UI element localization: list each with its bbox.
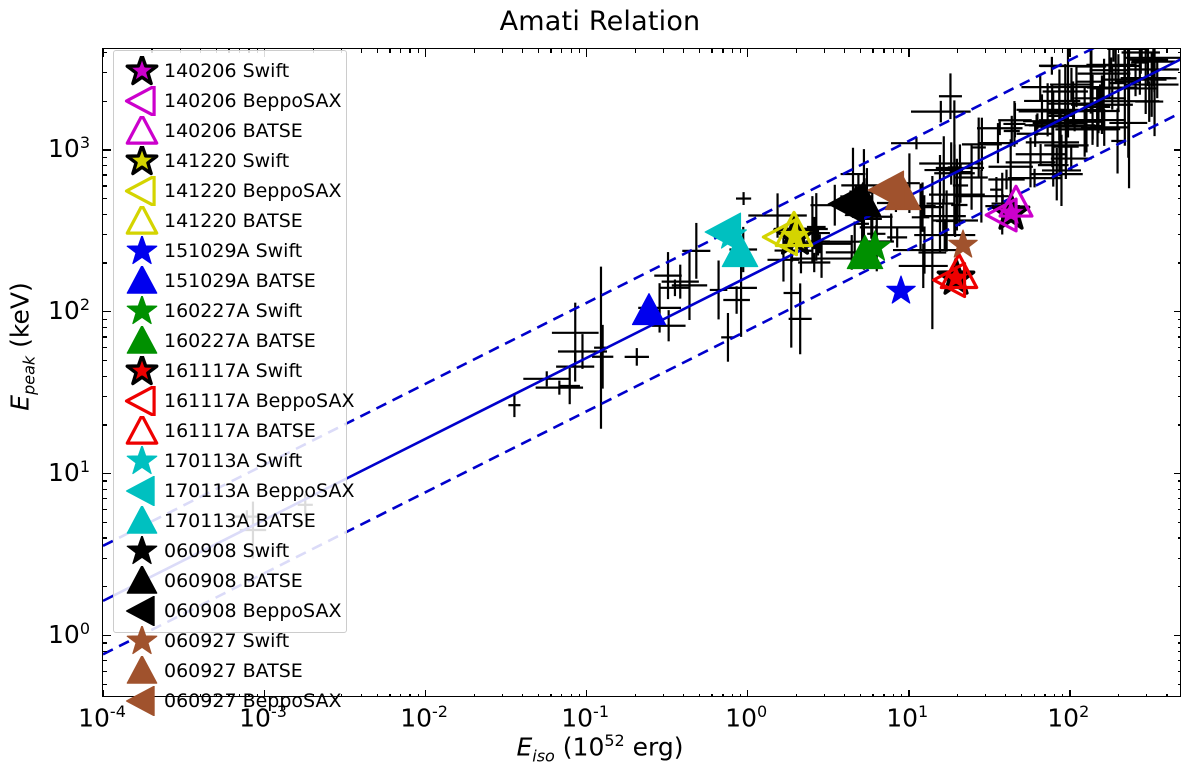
legend-item-141220-batse[interactable]: 141220 BATSE bbox=[114, 206, 346, 236]
axis-tick-mark bbox=[908, 690, 909, 697]
legend-item-160227a-batse[interactable]: 160227A BATSE bbox=[114, 326, 346, 356]
axis-tick-mark bbox=[103, 424, 107, 425]
axis-tick-mark bbox=[550, 49, 551, 53]
legend-marker-icon bbox=[120, 656, 164, 686]
axis-tick-mark bbox=[418, 49, 419, 53]
axis-tick-mark bbox=[663, 49, 664, 53]
legend-item-label: 060927 BeppoSAX bbox=[164, 692, 341, 711]
axis-tick-mark bbox=[103, 635, 111, 636]
axis-tick-mark bbox=[1178, 319, 1181, 320]
axis-tick-mark bbox=[418, 694, 419, 697]
axis-tick-mark bbox=[502, 694, 503, 697]
legend-marker-icon bbox=[120, 176, 164, 206]
y-tick-label: 103 bbox=[48, 133, 90, 163]
axis-tick-mark bbox=[1062, 694, 1063, 697]
axis-tick-mark bbox=[1178, 360, 1181, 361]
legend-item-160227a-swift[interactable]: 160227A Swift bbox=[114, 296, 346, 326]
axis-tick-mark bbox=[1178, 52, 1181, 53]
legend-marker-star-icon bbox=[127, 236, 156, 264]
axis-tick-mark bbox=[635, 49, 636, 53]
x-tick-label: 101 bbox=[886, 702, 928, 732]
legend-item-060927-bepposax[interactable]: 060927 BeppoSAX bbox=[114, 686, 346, 716]
legend-item-label: 160227A Swift bbox=[164, 302, 302, 321]
axis-tick-mark bbox=[1069, 49, 1070, 57]
legend-marker-icon bbox=[120, 566, 164, 596]
axis-tick-mark bbox=[957, 694, 958, 697]
legend-item-label: 141220 Swift bbox=[164, 152, 289, 171]
axis-tick-mark bbox=[740, 694, 741, 697]
axis-tick-mark bbox=[1166, 694, 1167, 697]
legend-item-140206-batse[interactable]: 140206 BATSE bbox=[114, 116, 346, 146]
axis-tick-mark bbox=[901, 694, 902, 697]
axis-tick-mark bbox=[103, 690, 104, 697]
axis-tick-mark bbox=[957, 49, 958, 53]
axis-tick-mark bbox=[1178, 558, 1181, 559]
axis-tick-mark bbox=[1146, 694, 1147, 697]
y-axis-label-symbol: E bbox=[6, 395, 35, 411]
axis-tick-mark bbox=[561, 694, 562, 697]
background-errorbar-points bbox=[235, 49, 1181, 558]
axis-tick-mark bbox=[103, 473, 111, 474]
legend-marker-icon bbox=[120, 506, 164, 536]
x-axis-label-unit-close: erg) bbox=[625, 732, 684, 761]
axis-tick-mark bbox=[571, 694, 572, 697]
axis-tick-mark bbox=[579, 694, 580, 697]
legend-marker-icon bbox=[120, 206, 164, 236]
x-tick-label: 102 bbox=[1047, 702, 1089, 732]
legend-item-151029a-swift[interactable]: 151029A Swift bbox=[114, 236, 346, 266]
axis-tick-mark bbox=[103, 311, 111, 312]
legend-item-label: 060908 Swift bbox=[164, 542, 289, 561]
axis-tick-mark bbox=[377, 49, 378, 53]
legend-item-161117a-batse[interactable]: 161117A BATSE bbox=[114, 416, 346, 446]
axis-tick-mark bbox=[1021, 49, 1022, 53]
legend-box[interactable]: 140206 Swift140206 BeppoSAX140206 BATSE1… bbox=[113, 50, 347, 633]
legend-item-label: 161117A BeppoSAX bbox=[164, 392, 354, 411]
axis-tick-mark bbox=[893, 694, 894, 697]
axis-tick-mark bbox=[103, 157, 107, 158]
axis-tick-mark bbox=[883, 49, 884, 53]
axis-tick-mark bbox=[732, 49, 733, 53]
legend-marker-star-icon bbox=[127, 356, 156, 384]
axis-tick-mark bbox=[663, 694, 664, 697]
axis-tick-mark bbox=[1174, 473, 1181, 474]
axis-tick-mark bbox=[1178, 101, 1181, 102]
legend-marker-icon bbox=[120, 86, 164, 116]
legend-item-140206-swift[interactable]: 140206 Swift bbox=[114, 56, 346, 86]
legend-item-161117a-swift[interactable]: 161117A Swift bbox=[114, 356, 346, 386]
axis-tick-mark bbox=[103, 586, 107, 587]
axis-tick-mark bbox=[1044, 49, 1045, 53]
legend-item-label: 151029A BATSE bbox=[164, 272, 316, 291]
axis-tick-mark bbox=[860, 49, 861, 53]
axis-tick-mark bbox=[425, 49, 426, 57]
axis-tick-mark bbox=[1178, 684, 1181, 685]
axis-tick-mark bbox=[1178, 424, 1181, 425]
legend-item-161117a-bepposax[interactable]: 161117A BeppoSAX bbox=[114, 386, 346, 416]
legend-item-label: 161117A BATSE bbox=[164, 422, 316, 441]
axis-tick-mark bbox=[699, 49, 700, 53]
legend-marker-triangle-left-open-icon bbox=[127, 176, 155, 205]
axis-tick-mark bbox=[1069, 690, 1070, 697]
axis-tick-mark bbox=[103, 642, 107, 643]
axis-tick-mark bbox=[538, 694, 539, 697]
axis-tick-mark bbox=[1034, 694, 1035, 697]
legend-item-label: 060927 Swift bbox=[164, 632, 289, 651]
legend-marker-star-icon bbox=[127, 536, 156, 564]
axis-tick-mark bbox=[1174, 311, 1181, 312]
axis-tick-mark bbox=[1178, 642, 1181, 643]
axis-tick-mark bbox=[1178, 651, 1181, 652]
grb-marker-151029A-star bbox=[887, 276, 915, 303]
axis-tick-mark bbox=[389, 49, 390, 53]
legend-item-140206-bepposax[interactable]: 140206 BeppoSAX bbox=[114, 86, 346, 116]
axis-tick-mark bbox=[103, 214, 107, 215]
legend-marker-icon bbox=[120, 626, 164, 656]
axis-tick-mark bbox=[586, 690, 587, 697]
axis-tick-mark bbox=[1118, 694, 1119, 697]
legend-item-170113a-bepposax[interactable]: 170113A BeppoSAX bbox=[114, 476, 346, 506]
legend-marker-triangle-up-icon bbox=[127, 656, 156, 683]
axis-tick-mark bbox=[1054, 49, 1055, 53]
axis-tick-mark bbox=[796, 694, 797, 697]
axis-tick-mark bbox=[103, 360, 107, 361]
legend-item-label: 141220 BATSE bbox=[164, 212, 303, 231]
axis-tick-mark bbox=[1178, 174, 1181, 175]
axis-tick-mark bbox=[103, 376, 107, 377]
axis-tick-mark bbox=[1178, 522, 1181, 523]
axis-tick-mark bbox=[1178, 347, 1181, 348]
axis-tick-mark bbox=[1044, 694, 1045, 697]
legend-marker-triangle-left-open-icon bbox=[127, 86, 155, 115]
axis-tick-mark bbox=[474, 49, 475, 53]
legend-marker-icon bbox=[120, 266, 164, 296]
axis-tick-mark bbox=[824, 694, 825, 697]
axis-tick-mark bbox=[474, 694, 475, 697]
legend-item-label: 141220 BeppoSAX bbox=[164, 182, 341, 201]
x-axis-label-exponent: 52 bbox=[604, 731, 624, 750]
y-axis-label: Epeak (keV) bbox=[6, 147, 39, 547]
axis-tick-mark bbox=[579, 49, 580, 53]
axis-tick-mark bbox=[103, 72, 107, 73]
legend-marker-icon bbox=[120, 56, 164, 86]
y-tick-label: 101 bbox=[48, 457, 90, 487]
y-tick-label: 102 bbox=[48, 295, 90, 325]
axis-tick-mark bbox=[400, 49, 401, 53]
axis-tick-mark bbox=[740, 49, 741, 53]
legend-item-060908-swift[interactable]: 060908 Swift bbox=[114, 536, 346, 566]
axis-tick-mark bbox=[711, 694, 712, 697]
axis-tick-mark bbox=[1178, 586, 1181, 587]
axis-tick-mark bbox=[103, 185, 107, 186]
axis-tick-mark bbox=[571, 49, 572, 53]
axis-tick-mark bbox=[103, 489, 107, 490]
axis-tick-mark bbox=[1178, 376, 1181, 377]
legend-marker-icon bbox=[120, 116, 164, 146]
axis-tick-mark bbox=[103, 347, 107, 348]
axis-tick-mark bbox=[103, 671, 107, 672]
legend-item-label: 140206 Swift bbox=[164, 62, 289, 81]
legend-item-label: 151029A Swift bbox=[164, 242, 302, 261]
axis-tick-mark bbox=[522, 694, 523, 697]
legend-marker-icon bbox=[120, 446, 164, 476]
legend-marker-star-icon bbox=[127, 296, 156, 324]
axis-tick-mark bbox=[103, 558, 107, 559]
x-tick-label: 10-1 bbox=[561, 702, 609, 732]
axis-tick-mark bbox=[1178, 671, 1181, 672]
legend-marker-triangle-up-open-icon bbox=[127, 416, 156, 443]
axis-tick-mark bbox=[103, 52, 107, 53]
legend-item-label: 060927 BATSE bbox=[164, 662, 303, 681]
axis-tick-mark bbox=[389, 694, 390, 697]
axis-tick-mark bbox=[796, 49, 797, 53]
legend-marker-triangle-up-open-icon bbox=[127, 206, 156, 233]
legend-item-060908-bepposax[interactable]: 060908 BeppoSAX bbox=[114, 596, 346, 626]
axis-tick-mark bbox=[561, 49, 562, 53]
axis-tick-mark bbox=[1178, 185, 1181, 186]
chart-title: Amati Relation bbox=[0, 6, 1200, 37]
axis-tick-mark bbox=[586, 49, 587, 57]
legend-marker-triangle-left-icon bbox=[127, 596, 155, 625]
x-axis-label-subscript: iso bbox=[532, 746, 555, 765]
axis-tick-mark bbox=[103, 198, 107, 199]
axis-tick-mark bbox=[1062, 49, 1063, 53]
legend-item-060908-batse[interactable]: 060908 BATSE bbox=[114, 566, 346, 596]
legend-marker-triangle-up-icon bbox=[127, 506, 156, 533]
axis-tick-mark bbox=[103, 660, 107, 661]
axis-tick-mark bbox=[103, 101, 107, 102]
axis-tick-mark bbox=[522, 49, 523, 53]
axis-tick-mark bbox=[103, 327, 107, 328]
legend-item-151029a-batse[interactable]: 151029A BATSE bbox=[114, 266, 346, 296]
x-axis-label: Eiso (1052 erg) bbox=[0, 731, 1200, 765]
axis-tick-mark bbox=[1174, 635, 1181, 636]
axis-tick-mark bbox=[1178, 509, 1181, 510]
axis-tick-mark bbox=[1178, 327, 1181, 328]
legend-item-label: 140206 BeppoSAX bbox=[164, 92, 341, 111]
axis-tick-mark bbox=[1054, 694, 1055, 697]
legend-marker-triangle-up-icon bbox=[127, 266, 156, 293]
legend-item-141220-bepposax[interactable]: 141220 BeppoSAX bbox=[114, 176, 346, 206]
axis-tick-mark bbox=[409, 49, 410, 53]
axis-tick-mark bbox=[1178, 214, 1181, 215]
legend-marker-star-icon bbox=[127, 146, 156, 174]
legend-marker-icon bbox=[120, 476, 164, 506]
legend-marker-triangle-up-icon bbox=[127, 566, 156, 593]
axis-tick-mark bbox=[908, 49, 909, 57]
axis-tick-mark bbox=[1178, 660, 1181, 661]
axis-tick-mark bbox=[409, 694, 410, 697]
y-tick-label: 100 bbox=[48, 619, 90, 649]
axis-tick-mark bbox=[732, 694, 733, 697]
x-axis-label-symbol: E bbox=[516, 732, 532, 761]
axis-tick-mark bbox=[747, 49, 748, 57]
axis-tick-mark bbox=[103, 480, 107, 481]
figure-root: Amati Relation 10-410-310-210-1100101102… bbox=[0, 0, 1200, 775]
legend-marker-star-icon bbox=[127, 56, 156, 84]
legend-item-label: 161117A Swift bbox=[164, 362, 302, 381]
legend-marker-triangle-left-open-icon bbox=[127, 386, 155, 415]
axis-tick-mark bbox=[103, 396, 107, 397]
axis-tick-mark bbox=[103, 498, 107, 499]
axis-tick-mark bbox=[400, 694, 401, 697]
axis-tick-mark bbox=[711, 49, 712, 53]
legend-marker-star-icon bbox=[127, 446, 156, 474]
grb-marker-060908-bepposax bbox=[828, 185, 863, 223]
axis-tick-mark bbox=[883, 694, 884, 697]
axis-tick-mark bbox=[103, 234, 107, 235]
axis-tick-mark bbox=[550, 694, 551, 697]
axis-tick-mark bbox=[103, 165, 107, 166]
axis-tick-mark bbox=[683, 49, 684, 53]
legend-item-141220-swift[interactable]: 141220 Swift bbox=[114, 146, 346, 176]
axis-tick-mark bbox=[377, 694, 378, 697]
axis-tick-mark bbox=[683, 694, 684, 697]
axis-tick-mark bbox=[361, 694, 362, 697]
axis-tick-mark bbox=[1178, 262, 1181, 263]
axis-tick-mark bbox=[1178, 198, 1181, 199]
axis-tick-mark bbox=[103, 262, 107, 263]
legend-item-label: 140206 BATSE bbox=[164, 122, 303, 141]
axis-tick-mark bbox=[1178, 498, 1181, 499]
legend-item-label: 060908 BATSE bbox=[164, 572, 303, 591]
axis-tick-mark bbox=[1178, 234, 1181, 235]
legend-marker-icon bbox=[120, 686, 164, 716]
axis-tick-mark bbox=[1118, 49, 1119, 53]
legend-item-170113a-batse[interactable]: 170113A BATSE bbox=[114, 506, 346, 536]
legend-marker-triangle-left-icon bbox=[127, 686, 155, 715]
axis-tick-mark bbox=[103, 522, 107, 523]
legend-marker-icon bbox=[120, 596, 164, 626]
axis-tick-mark bbox=[824, 49, 825, 53]
legend-marker-icon bbox=[120, 386, 164, 416]
axis-tick-mark bbox=[872, 694, 873, 697]
axis-tick-mark bbox=[901, 49, 902, 53]
axis-tick-mark bbox=[103, 336, 107, 337]
axis-tick-mark bbox=[103, 651, 107, 652]
legend-item-170113a-swift[interactable]: 170113A Swift bbox=[114, 446, 346, 476]
y-axis-label-subscript: peak bbox=[20, 356, 39, 395]
axis-tick-mark bbox=[103, 149, 111, 150]
axis-tick-mark bbox=[844, 694, 845, 697]
axis-tick-mark bbox=[1174, 149, 1181, 150]
axis-tick-mark bbox=[872, 49, 873, 53]
axis-tick-mark bbox=[722, 694, 723, 697]
axis-tick-mark bbox=[1178, 396, 1181, 397]
legend-marker-icon bbox=[120, 536, 164, 566]
legend-marker-icon bbox=[120, 326, 164, 356]
x-tick-label: 100 bbox=[725, 702, 767, 732]
axis-tick-mark bbox=[635, 694, 636, 697]
legend-item-label: 170113A BeppoSAX bbox=[164, 482, 354, 501]
axis-tick-mark bbox=[985, 694, 986, 697]
axis-tick-mark bbox=[722, 49, 723, 53]
legend-marker-triangle-up-icon bbox=[127, 326, 156, 353]
axis-tick-mark bbox=[1178, 165, 1181, 166]
legend-item-060927-swift[interactable]: 060927 Swift bbox=[114, 626, 346, 656]
legend-marker-star-icon bbox=[127, 626, 156, 654]
legend-item-label: 060908 BeppoSAX bbox=[164, 602, 341, 621]
axis-tick-mark bbox=[103, 684, 107, 685]
legend-marker-triangle-up-open-icon bbox=[127, 116, 156, 143]
legend-marker-triangle-left-icon bbox=[127, 476, 155, 505]
axis-tick-mark bbox=[425, 690, 426, 697]
y-axis-label-unit: (keV) bbox=[6, 282, 35, 356]
axis-tick-mark bbox=[1178, 336, 1181, 337]
legend-item-060927-batse[interactable]: 060927 BATSE bbox=[114, 656, 346, 686]
axis-tick-mark bbox=[538, 49, 539, 53]
axis-tick-mark bbox=[1021, 694, 1022, 697]
legend-item-label: 160227A BATSE bbox=[164, 332, 316, 351]
axis-tick-mark bbox=[1178, 489, 1181, 490]
axis-tick-mark bbox=[1178, 72, 1181, 73]
legend-marker-icon bbox=[120, 416, 164, 446]
axis-tick-mark bbox=[103, 319, 107, 320]
axis-tick-mark bbox=[103, 174, 107, 175]
legend-marker-icon bbox=[120, 146, 164, 176]
axis-tick-mark bbox=[103, 509, 107, 510]
legend-marker-icon bbox=[120, 356, 164, 386]
legend-marker-icon bbox=[120, 236, 164, 266]
axis-tick-mark bbox=[502, 49, 503, 53]
axis-tick-mark bbox=[747, 690, 748, 697]
legend-marker-icon bbox=[120, 296, 164, 326]
axis-tick-mark bbox=[1178, 537, 1181, 538]
axis-tick-mark bbox=[844, 49, 845, 53]
axis-tick-mark bbox=[361, 49, 362, 53]
axis-tick-mark bbox=[1005, 694, 1006, 697]
axis-tick-mark bbox=[699, 694, 700, 697]
axis-tick-mark bbox=[985, 49, 986, 53]
x-axis-label-unit-open: (10 bbox=[555, 732, 605, 761]
legend-item-label: 170113A BATSE bbox=[164, 512, 316, 531]
axis-tick-mark bbox=[893, 49, 894, 53]
axis-tick-mark bbox=[1178, 157, 1181, 158]
axis-tick-mark bbox=[1146, 49, 1147, 53]
axis-tick-mark bbox=[1005, 49, 1006, 53]
legend-item-label: 170113A Swift bbox=[164, 452, 302, 471]
axis-tick-mark bbox=[1178, 480, 1181, 481]
axis-tick-mark bbox=[1034, 49, 1035, 53]
x-tick-label: 10-2 bbox=[400, 702, 448, 732]
axis-tick-mark bbox=[1166, 49, 1167, 53]
axis-tick-mark bbox=[860, 694, 861, 697]
axis-tick-mark bbox=[103, 537, 107, 538]
